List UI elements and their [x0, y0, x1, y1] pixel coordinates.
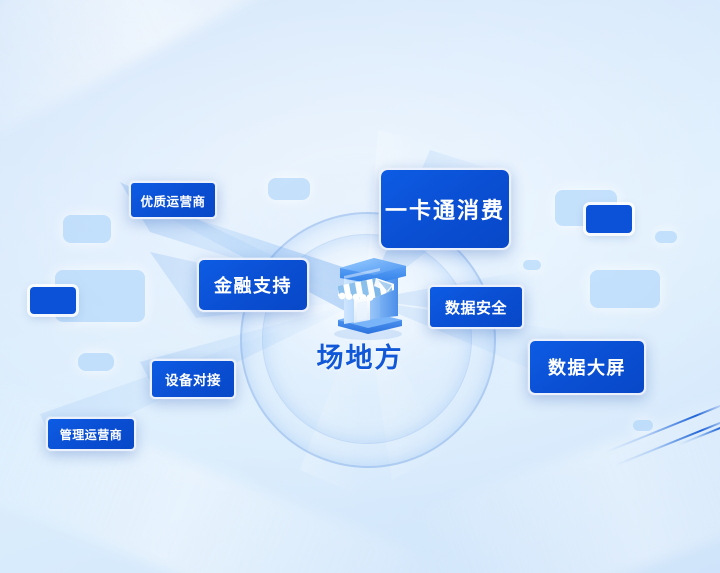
- badge-guanli-yunyingshang[interactable]: 管理运营商: [46, 417, 136, 451]
- center-label-text: 场地方: [317, 336, 404, 375]
- badge-label: 数据安全: [445, 297, 507, 318]
- badge-label: 金融支持: [214, 272, 292, 298]
- badge-label: 优质运营商: [140, 191, 205, 210]
- badge-jinrong-zhichi[interactable]: 金融支持: [197, 258, 309, 312]
- badge-shuju-daping[interactable]: 数据大屏: [528, 339, 646, 395]
- deco-rect-9: [590, 270, 660, 308]
- badge-label: 管理运营商: [60, 426, 123, 443]
- badge-label: 数据大屏: [548, 354, 626, 380]
- badge-yikatong-xiaofei[interactable]: 一卡通消费: [379, 168, 511, 250]
- deco-rect-7: [655, 231, 677, 243]
- deco-rect-10: [633, 420, 653, 431]
- deco-rect-4: [268, 178, 310, 200]
- badge-youzhi-yunyingshang[interactable]: 优质运营商: [129, 181, 217, 219]
- storefront-3d-icon: [316, 246, 414, 342]
- badge-shuju-anquan[interactable]: 数据安全: [428, 285, 524, 329]
- badge-label: 一卡通消费: [385, 193, 505, 225]
- infographic-canvas: 场地方 一卡通消费 金融支持 数据大屏 数据安全 优质运营商 设备对接 管理运营…: [0, 0, 720, 573]
- badge-shebei-duijie[interactable]: 设备对接: [150, 359, 236, 399]
- deco-rect-2: [30, 287, 76, 314]
- deco-rect-8: [523, 260, 541, 270]
- badge-label: 设备对接: [165, 369, 221, 389]
- deco-rect-6: [586, 205, 632, 233]
- deco-rect-0: [63, 215, 111, 243]
